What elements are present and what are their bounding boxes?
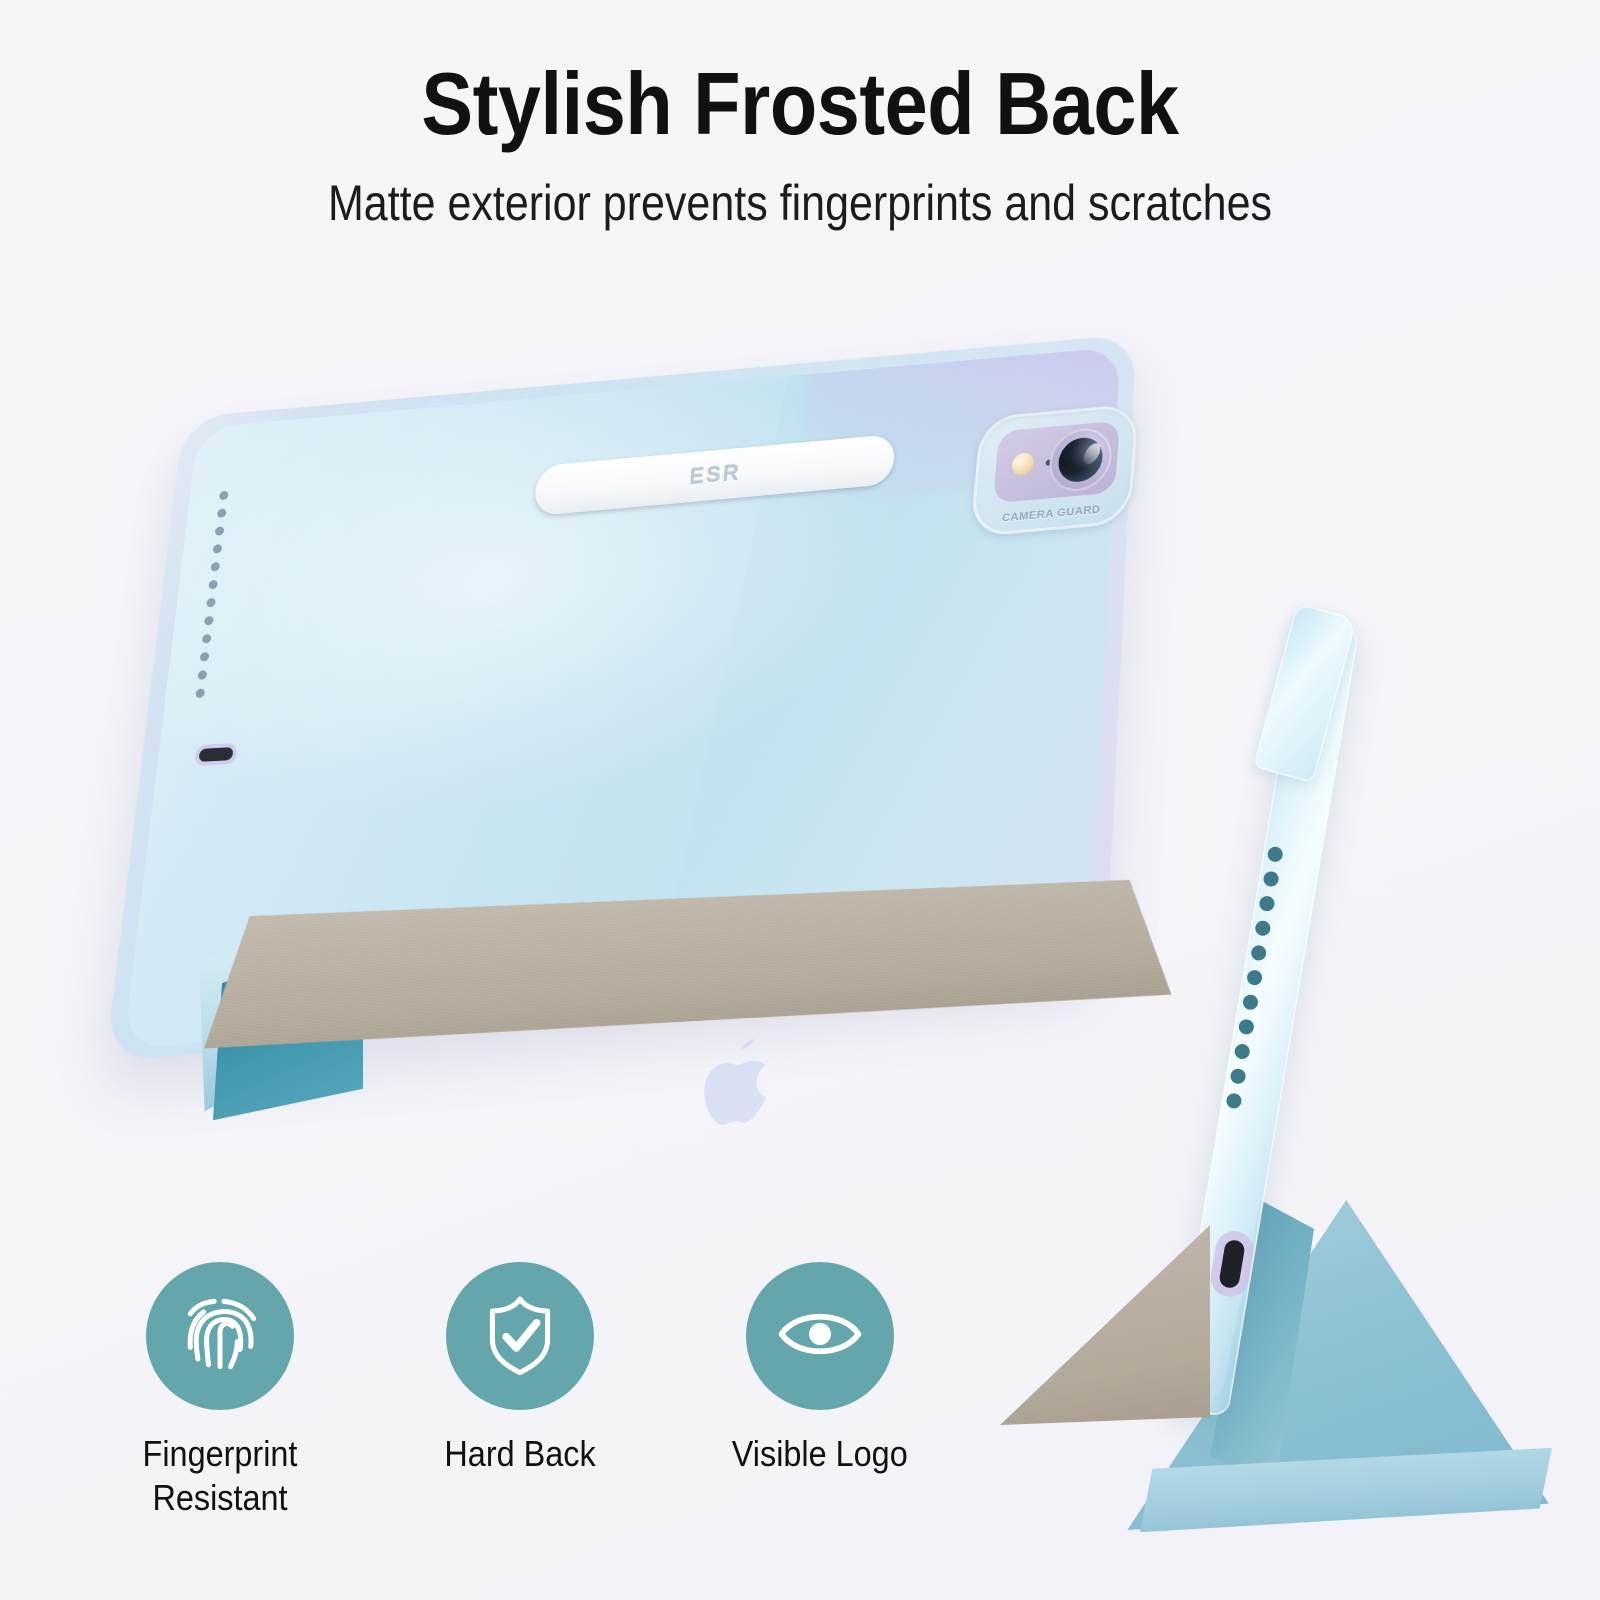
speaker-hole: [206, 598, 216, 607]
speaker-hole: [1254, 920, 1271, 937]
feature-item-hard-back: Hard Back: [370, 1262, 670, 1520]
header-block: Stylish Frosted Back Matte exterior prev…: [0, 0, 1600, 231]
speaker-hole: [210, 562, 220, 571]
fingerprint-icon: [172, 1286, 268, 1387]
lens-glint: [1080, 441, 1104, 467]
speaker-hole: [215, 526, 225, 535]
page-title: Stylish Frosted Back: [96, 58, 1504, 150]
speaker-hole: [1238, 1018, 1255, 1035]
speaker-hole: [202, 634, 212, 644]
speaker-hole: [1242, 994, 1259, 1011]
badge-circle: [146, 1262, 294, 1410]
speaker-hole: [1225, 1092, 1242, 1109]
feature-list: Fingerprint Resistant Hard Back: [70, 1262, 970, 1520]
feature-item-fingerprint: Fingerprint Resistant: [70, 1262, 370, 1520]
speaker-hole: [200, 652, 210, 662]
speaker-hole: [1267, 846, 1284, 863]
speaker-hole: [1229, 1068, 1246, 1085]
badge-circle: [446, 1262, 594, 1410]
speaker-hole: [197, 670, 207, 680]
tablet-back-view: ESR C: [95, 350, 1165, 1050]
esr-brand-logo: ESR: [688, 460, 741, 491]
camera-plate: [993, 421, 1121, 504]
feature-label: Visible Logo: [732, 1432, 908, 1476]
eye-icon: [772, 1286, 868, 1387]
product-marketing-image: Stylish Frosted Back Matte exterior prev…: [0, 0, 1600, 1600]
page-subtitle: Matte exterior prevents fingerprints and…: [112, 176, 1488, 231]
speaker-hole: [219, 491, 229, 500]
speaker-hole: [1250, 944, 1267, 961]
speaker-hole: [1246, 969, 1263, 986]
speaker-hole: [212, 544, 222, 553]
usb-c-port: [198, 747, 233, 762]
badge-circle: [746, 1262, 894, 1410]
camera-flash-icon: [1011, 452, 1035, 476]
speaker-hole: [1234, 1043, 1251, 1060]
apple-logo-icon: [682, 1018, 787, 1139]
speaker-hole: [1258, 895, 1275, 912]
speaker-hole: [195, 688, 205, 698]
speaker-hole: [217, 509, 227, 518]
feature-label: Hard Back: [444, 1432, 595, 1476]
feature-label: Fingerprint Resistant: [103, 1432, 337, 1520]
shield-check-icon: [474, 1288, 566, 1385]
speaker-hole: [208, 580, 218, 589]
feature-item-visible-logo: Visible Logo: [670, 1262, 970, 1520]
camera-lens-inner: [1057, 436, 1104, 484]
speaker-hole: [204, 616, 214, 626]
camera-lens: [1047, 426, 1114, 493]
camera-guard-module: CAMERA GUARD: [970, 403, 1140, 537]
speaker-hole: [1262, 870, 1279, 887]
